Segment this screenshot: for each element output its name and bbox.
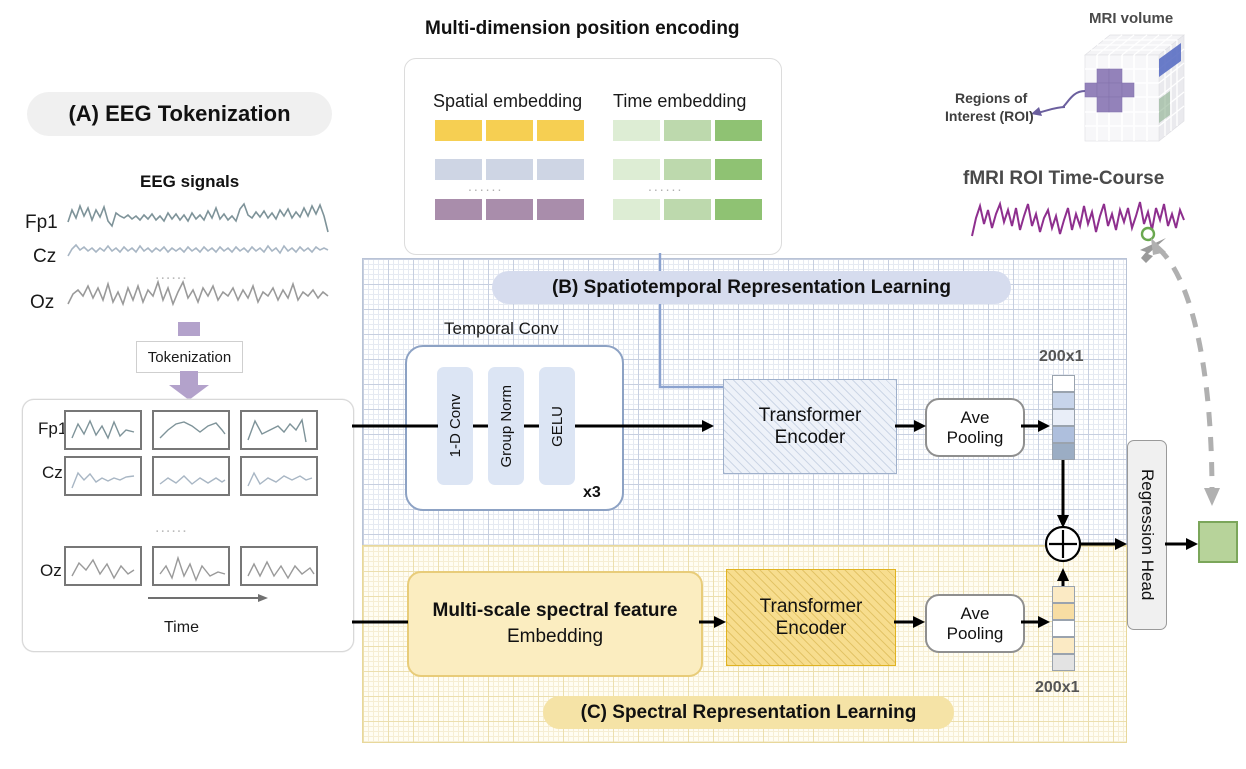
section-a-title: (A) EEG Tokenization [27, 92, 332, 136]
regression-head-box: Regression Head [1127, 440, 1167, 630]
fusion-node-icon [1043, 524, 1083, 564]
pooling-label-line2: Pooling [947, 428, 1004, 448]
tokenization-purple-marker [178, 322, 200, 336]
vector-cell [1052, 637, 1075, 654]
eeg-channel-label-cz: Cz [33, 246, 56, 268]
vector-to-fusion-arrow-top [1055, 460, 1071, 530]
fusion-to-regression-arrow [1080, 536, 1130, 552]
section-c-title-label: (C) Spectral Representation Learning [581, 702, 917, 724]
time-embedding-row-last [613, 199, 762, 220]
token-cards [62, 408, 348, 608]
encoder-label-line2: Encoder [775, 427, 846, 449]
spectral-pooling-to-vector-arrow [1021, 614, 1051, 630]
tokens-to-spectral-arrow [352, 614, 412, 630]
spatial-embedding-row-last [435, 199, 584, 220]
pooling-label-line1: Ave [961, 604, 990, 624]
time-embedding-cell [664, 120, 711, 141]
eeg-signals-title: EEG signals [140, 172, 239, 192]
spatial-embedding-cell [537, 120, 584, 141]
time-embedding-cell [715, 199, 762, 220]
spatial-embedding-cell [435, 120, 482, 141]
encoder-label-line1: Transformer [759, 405, 862, 427]
pooling-to-vector-arrow-top [1021, 418, 1051, 434]
time-embedding-cell [613, 159, 660, 180]
vector-cell [1052, 620, 1075, 637]
time-embedding-cell [613, 120, 660, 141]
section-b-title: (B) Spatiotemporal Representation Learni… [492, 271, 1011, 304]
vector-cell [1052, 603, 1075, 620]
spectral-ave-pooling: Ave Pooling [925, 594, 1025, 653]
time-embedding-cell [664, 199, 711, 220]
section-a-title-label: (A) EEG Tokenization [68, 101, 290, 127]
temporal-conv-label: Temporal Conv [444, 319, 558, 339]
spatial-embedding-cell [435, 199, 482, 220]
encoder-label-line2: Encoder [776, 618, 847, 640]
spatial-embedding-grid [435, 120, 584, 180]
spatial-embedding-cell [486, 159, 533, 180]
pooling-label-line1: Ave [961, 408, 990, 428]
spatiotemporal-ave-pooling: Ave Pooling [925, 398, 1025, 457]
vector-cell [1052, 426, 1075, 443]
spectral-embedding-to-encoder-arrow [699, 614, 727, 630]
spectral-embedding-subtitle: Embedding [507, 626, 603, 648]
time-embedding-label: Time embedding [613, 91, 746, 112]
spatiotemporal-vector-dim: 200x1 [1039, 348, 1084, 366]
spatial-embedding-cell [486, 120, 533, 141]
spatial-embedding-cell [486, 199, 533, 220]
eeg-channel-label-fp1: Fp1 [25, 212, 58, 234]
tokenization-arrow-icon [168, 371, 210, 401]
time-embedding-cell [715, 159, 762, 180]
token-row-label-cz: Cz [42, 463, 63, 483]
spatial-embedding-cell [537, 199, 584, 220]
spectral-encoder-to-pooling-arrow [894, 614, 926, 630]
vector-cell [1052, 409, 1075, 426]
spectral-vector-dim: 200x1 [1035, 679, 1080, 697]
temporal-conv-wiring [352, 418, 722, 434]
spectral-vector [1052, 586, 1075, 671]
tokenization-label: Tokenization [148, 349, 231, 366]
roi-label-line1: Regions of [955, 90, 1027, 106]
eeg-channel-label-oz: Oz [30, 292, 54, 314]
section-c-title: (C) Spectral Representation Learning [543, 696, 954, 729]
eeg-waveforms [68, 196, 333, 316]
eeg-waveform-fp1 [68, 204, 328, 232]
token-row-label-oz: Oz [40, 561, 62, 581]
conv-repeat-label: x3 [583, 484, 601, 502]
vector-cell [1052, 586, 1075, 603]
fmri-timecourse-title: fMRI ROI Time-Course [963, 168, 1164, 190]
eeg-waveform-oz [68, 282, 328, 304]
encoder-to-pooling-arrow-top [895, 418, 927, 434]
time-embedding-grid [613, 120, 762, 180]
spatial-embedding-cell [537, 159, 584, 180]
section-b-title-label: (B) Spatiotemporal Representation Learni… [552, 277, 951, 299]
time-embedding-ellipsis: ...... [648, 178, 683, 194]
eeg-waveform-cz [68, 245, 328, 256]
output-prediction-box [1198, 521, 1238, 563]
spatial-embedding-ellipsis: ...... [468, 178, 503, 194]
spectral-transformer-encoder: Transformer Encoder [726, 569, 896, 666]
position-encoding-title: Multi-dimension position encoding [425, 18, 740, 40]
regression-to-output-arrow [1165, 536, 1201, 552]
vector-cell [1052, 392, 1075, 409]
time-embedding-cell [715, 120, 762, 141]
vector-cell [1052, 654, 1075, 671]
tokenization-label-box: Tokenization [136, 341, 243, 373]
time-embedding-cell [613, 199, 660, 220]
spatiotemporal-transformer-encoder: Transformer Encoder [723, 379, 897, 474]
vector-cell [1052, 443, 1075, 460]
spatiotemporal-vector [1052, 375, 1075, 460]
mri-volume-cube-icon [1063, 33, 1188, 155]
spectral-embedding-title: Multi-scale spectral feature [433, 600, 678, 622]
pooling-label-line2: Pooling [947, 624, 1004, 644]
spatial-embedding-cell [435, 159, 482, 180]
time-axis-label: Time [164, 619, 199, 637]
roi-pointer-arrow-icon [1031, 95, 1067, 119]
regression-head-label: Regression Head [1137, 469, 1157, 600]
mri-volume-title: MRI volume [1089, 10, 1173, 27]
vector-cell [1052, 375, 1075, 392]
spectral-embedding-box: Multi-scale spectral feature Embedding [407, 571, 703, 677]
encoder-label-line1: Transformer [760, 596, 863, 618]
spatial-embedding-label: Spatial embedding [433, 91, 582, 112]
roi-label-line2: Interest (ROI) [945, 108, 1034, 124]
time-embedding-cell [664, 159, 711, 180]
